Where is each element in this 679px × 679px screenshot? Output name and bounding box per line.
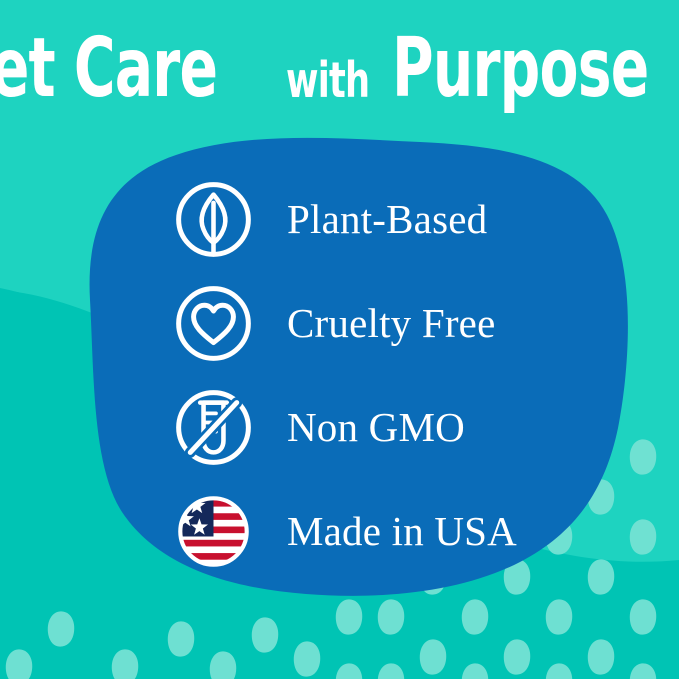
badge-row-cruelty-free: Cruelty Free (172, 282, 517, 365)
heart-in-circle-icon (172, 282, 255, 365)
promo-graphic: Pet Care with Purpose ® Plant-Based Crue… (0, 0, 679, 679)
badge-row-made-in-usa: Made in USA (172, 490, 517, 573)
badge-row-plant-based: Plant-Based (172, 178, 517, 261)
badge-label-cruelty-free: Cruelty Free (287, 303, 495, 344)
leaf-in-circle-icon (172, 178, 255, 261)
usa-flag-circle-icon (172, 490, 255, 573)
badge-row-non-gmo: Non GMO (172, 386, 517, 469)
page-title: Pet Care with Purpose ® (0, 38, 679, 109)
no-test-tube-icon (172, 386, 255, 469)
headline-container: Pet Care with Purpose ® (0, 18, 679, 128)
badge-label-made-in-usa: Made in USA (287, 511, 517, 552)
benefit-badge-list: Plant-Based Cruelty Free (172, 178, 517, 573)
badge-label-non-gmo: Non GMO (287, 407, 465, 448)
headline-part-3: Purpose (392, 26, 649, 108)
badge-label-plant-based: Plant-Based (287, 199, 487, 240)
headline-part-1: Pet Care (0, 26, 217, 108)
headline-part-2: with (286, 56, 369, 105)
